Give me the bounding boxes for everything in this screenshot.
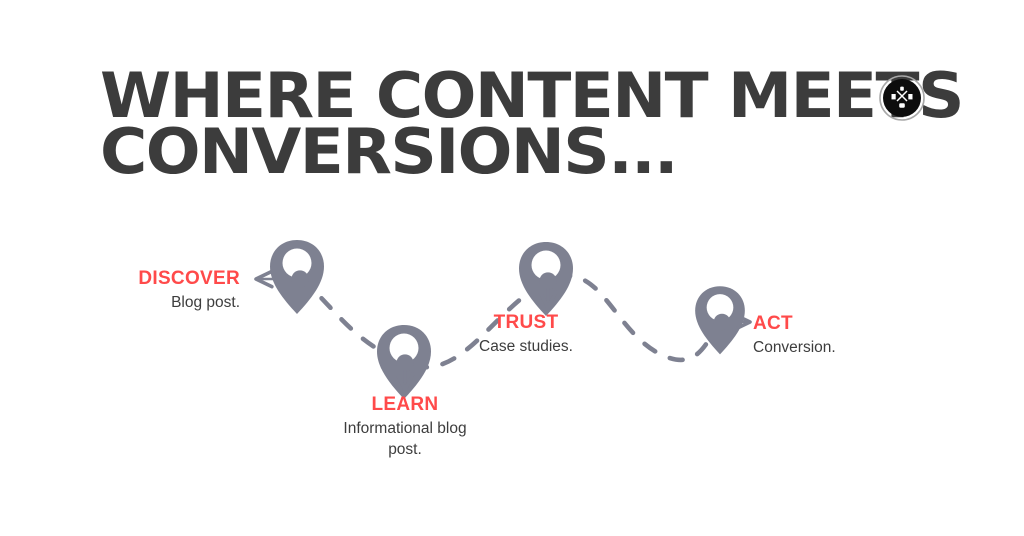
journey-step-learn[interactable] [377, 325, 431, 399]
journey-dot-trust [539, 272, 556, 289]
step-description-discover: Blog post. [18, 292, 240, 313]
step-title-learn: LEARN [316, 394, 494, 416]
step-description-learn: Informational blog post. [316, 418, 494, 460]
step-description-learn-line-1: Informational blog [316, 418, 494, 439]
step-description-act: Conversion. [753, 337, 953, 358]
step-label-act: ACT Conversion. [753, 313, 953, 358]
step-title-act: ACT [753, 313, 953, 335]
journey-step-trust[interactable] [519, 242, 573, 316]
step-label-discover: DISCOVER Blog post. [18, 268, 240, 313]
step-description-learn-line-2: post. [316, 439, 494, 460]
step-title-trust: TRUST [438, 312, 614, 334]
journey-dot-act [714, 314, 731, 331]
step-label-learn: LEARN Informational blog post. [316, 394, 494, 460]
step-label-trust: TRUST Case studies. [438, 312, 614, 357]
step-description-trust: Case studies. [438, 336, 614, 357]
journey-dot-learn [396, 354, 413, 371]
journey-step-discover[interactable] [256, 240, 324, 314]
infographic-canvas: WHERE CONTENT MEETS CONVERSIONS... [0, 0, 1024, 536]
step-title-discover: DISCOVER [18, 268, 240, 290]
